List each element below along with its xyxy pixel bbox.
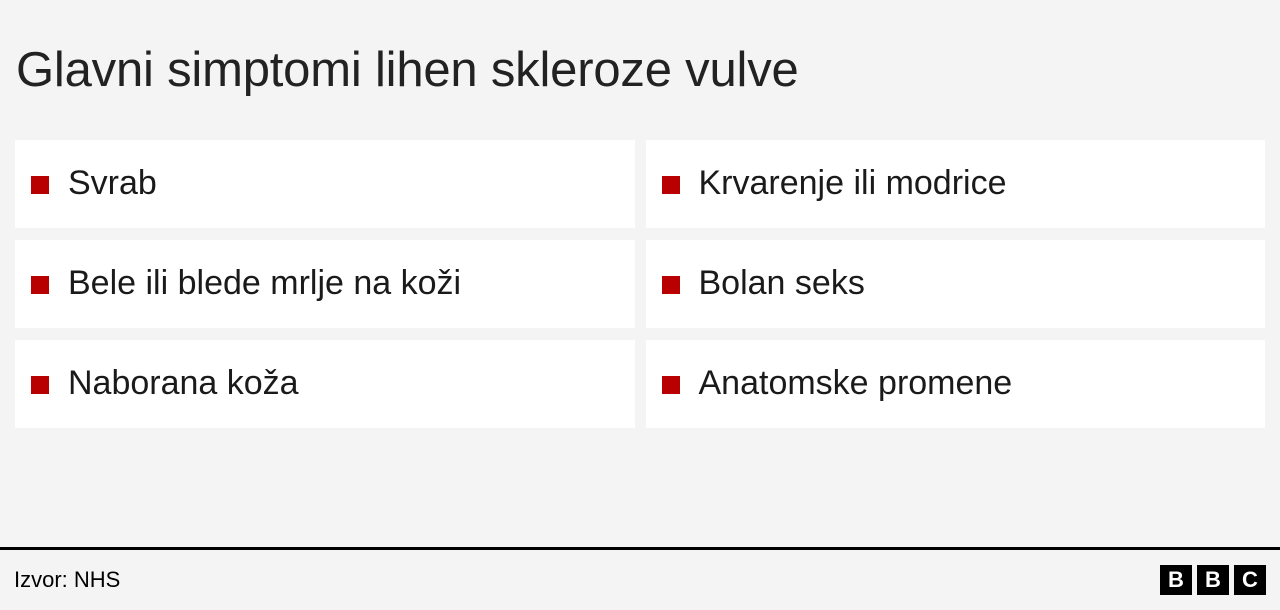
infographic-root: Glavni simptomi lihen skleroze vulve Svr… [0, 0, 1280, 610]
title-area: Glavni simptomi lihen skleroze vulve [0, 0, 1280, 140]
list-item: Svrab [15, 140, 635, 228]
source-attribution: Izvor: NHS [14, 569, 120, 591]
bbc-logo: B B C [1160, 565, 1266, 595]
list-item: Naborana koža [15, 340, 635, 428]
square-bullet-icon [31, 376, 49, 394]
list-item: Bele ili blede mrlje na koži [15, 240, 635, 328]
list-item-label: Svrab [68, 165, 157, 202]
square-bullet-icon [662, 176, 680, 194]
list-item-label: Bele ili blede mrlje na koži [68, 265, 461, 302]
bbc-logo-letter-2: B [1197, 565, 1229, 595]
list-item: Krvarenje ili modrice [646, 140, 1266, 228]
footer: Izvor: NHS B B C [0, 550, 1280, 610]
bbc-logo-letter-3: C [1234, 565, 1266, 595]
square-bullet-icon [31, 176, 49, 194]
symptom-grid: Svrab Krvarenje ili modrice Bele ili ble… [0, 140, 1280, 428]
list-item: Bolan seks [646, 240, 1266, 328]
bbc-logo-letter-1: B [1160, 565, 1192, 595]
square-bullet-icon [31, 276, 49, 294]
square-bullet-icon [662, 276, 680, 294]
list-item-label: Naborana koža [68, 365, 299, 402]
square-bullet-icon [662, 376, 680, 394]
list-item-label: Anatomske promene [699, 365, 1013, 402]
list-item-label: Krvarenje ili modrice [699, 165, 1007, 202]
page-title: Glavni simptomi lihen skleroze vulve [16, 44, 799, 97]
list-item-label: Bolan seks [699, 265, 865, 302]
layout-spacer [0, 428, 1280, 547]
list-item: Anatomske promene [646, 340, 1266, 428]
